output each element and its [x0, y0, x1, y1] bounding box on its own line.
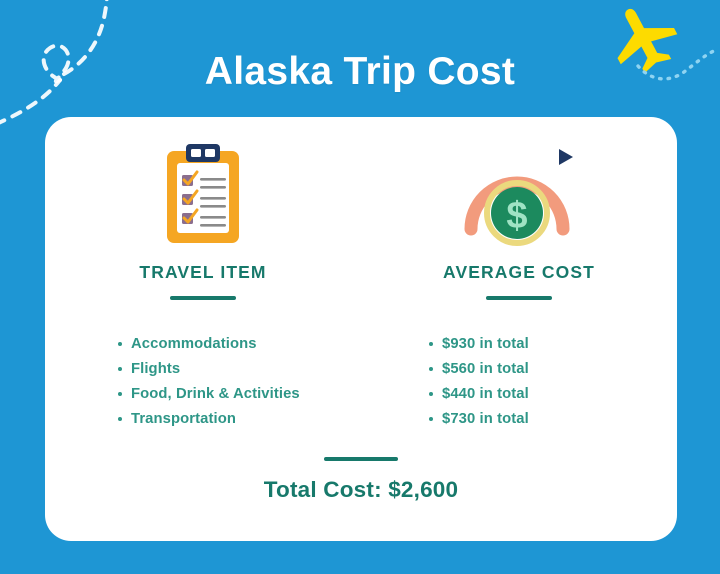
list-item: $560 in total: [429, 357, 529, 382]
list-item-value: $560 in total: [442, 357, 529, 382]
money-dollar-gauge-icon: $: [457, 143, 581, 249]
list-item: Flights: [118, 357, 300, 382]
list-row: Accommodations Flights Food, Drink & Act…: [45, 332, 677, 432]
list-item: $930 in total: [429, 332, 529, 357]
average-cost-list: $930 in total $560 in total $440 in tota…: [429, 332, 529, 432]
column-heading-travel-item: TRAVEL ITEM: [139, 262, 266, 283]
bullet-dot-icon: [118, 392, 122, 396]
travel-item-heading-column: TRAVEL ITEM: [45, 262, 361, 300]
travel-item-list: Accommodations Flights Food, Drink & Act…: [118, 332, 300, 432]
list-item-label: Accommodations: [131, 332, 257, 357]
list-item-value: $730 in total: [442, 407, 529, 432]
bullet-dot-icon: [429, 392, 433, 396]
bullet-dot-icon: [118, 417, 122, 421]
average-cost-heading-column: AVERAGE COST: [361, 262, 677, 300]
bullet-dot-icon: [429, 417, 433, 421]
bullet-dot-icon: [429, 342, 433, 346]
list-item-value: $930 in total: [442, 332, 529, 357]
infographic-canvas: Alaska Trip Cost: [0, 0, 720, 574]
bullet-dot-icon: [118, 342, 122, 346]
column-heading-row: TRAVEL ITEM AVERAGE COST: [45, 262, 677, 300]
list-item: Transportation: [118, 407, 300, 432]
list-item: $730 in total: [429, 407, 529, 432]
list-item-label: Food, Drink & Activities: [131, 382, 300, 407]
travel-item-icon-column: [45, 143, 361, 249]
footer-divider: [324, 457, 398, 461]
list-item: Accommodations: [118, 332, 300, 357]
average-cost-list-column: $930 in total $560 in total $440 in tota…: [361, 332, 677, 432]
svg-text:$: $: [506, 195, 527, 237]
list-item-label: Flights: [131, 357, 180, 382]
heading-divider: [170, 296, 236, 300]
list-item-label: Transportation: [131, 407, 236, 432]
icon-row: $: [45, 143, 677, 249]
list-item: Food, Drink & Activities: [118, 382, 300, 407]
total-cost-label: Total Cost: $2,600: [45, 477, 677, 503]
content-card: $ TRAVEL ITEM AVERAGE COST: [45, 117, 677, 541]
clipboard-checklist-icon: [159, 143, 247, 249]
travel-item-list-column: Accommodations Flights Food, Drink & Act…: [45, 332, 361, 432]
list-item-value: $440 in total: [442, 382, 529, 407]
heading-divider: [486, 296, 552, 300]
bullet-dot-icon: [118, 367, 122, 371]
bullet-dot-icon: [429, 367, 433, 371]
page-title: Alaska Trip Cost: [0, 50, 720, 94]
column-heading-average-cost: AVERAGE COST: [443, 262, 595, 283]
average-cost-icon-column: $: [361, 143, 677, 249]
list-item: $440 in total: [429, 382, 529, 407]
